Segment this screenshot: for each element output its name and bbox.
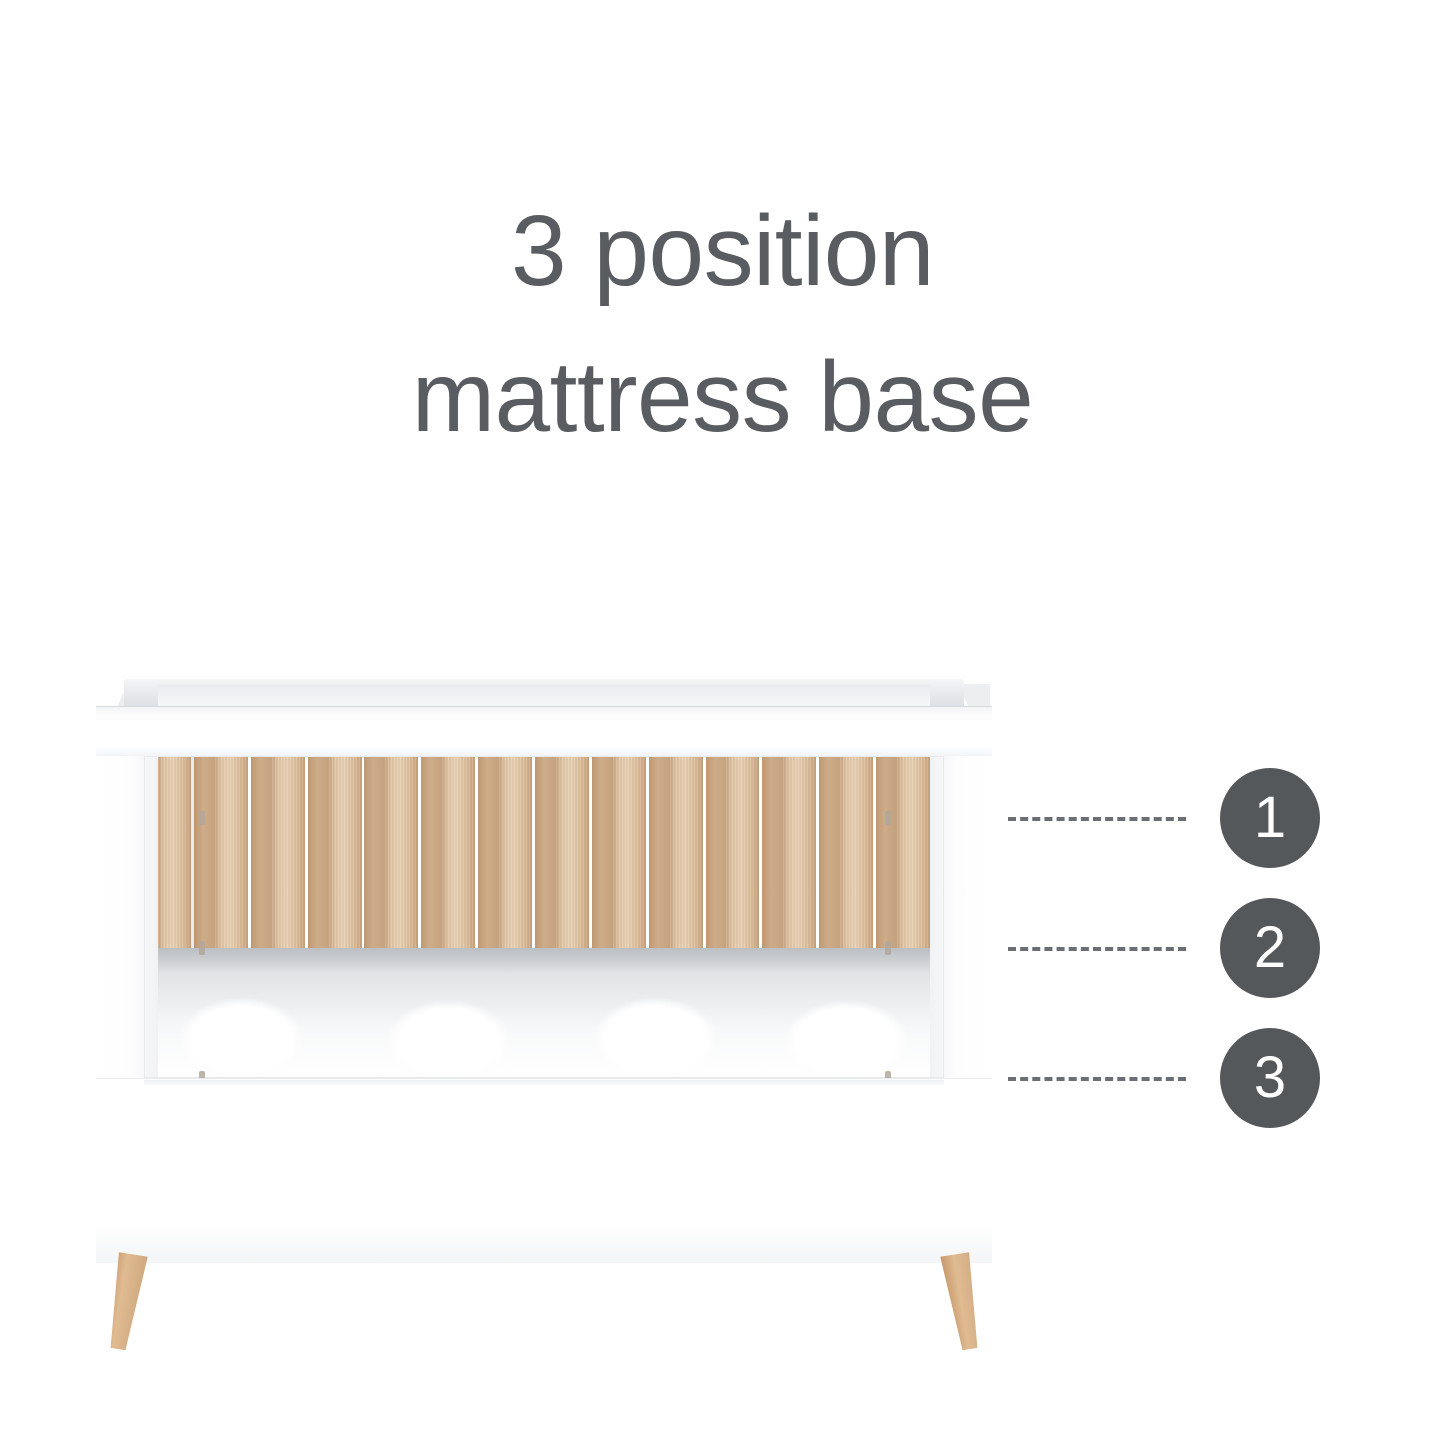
page-title-line-2: mattress base (0, 324, 1445, 470)
callout-row: 1 (0, 768, 1445, 868)
infographic-canvas: 3 position mattress base 1 (0, 0, 1445, 1445)
leader-line (1008, 817, 1186, 821)
top-rail-near-edge (96, 706, 992, 721)
leg-right (940, 1251, 989, 1351)
leader-line (1008, 1077, 1186, 1081)
leader-line (1008, 947, 1186, 951)
position-badge[interactable]: 3 (1220, 1028, 1320, 1128)
position-badge[interactable]: 2 (1220, 898, 1320, 998)
position-badge[interactable]: 1 (1220, 768, 1320, 868)
callout-row: 3 (0, 1028, 1445, 1128)
top-rail-front-face (96, 720, 992, 757)
top-rail-far-inner (158, 685, 930, 707)
leg-left (99, 1251, 148, 1351)
page-title-line-1: 3 position (0, 178, 1445, 324)
callout-row: 2 (0, 898, 1445, 998)
page-title: 3 position mattress base (0, 178, 1445, 470)
